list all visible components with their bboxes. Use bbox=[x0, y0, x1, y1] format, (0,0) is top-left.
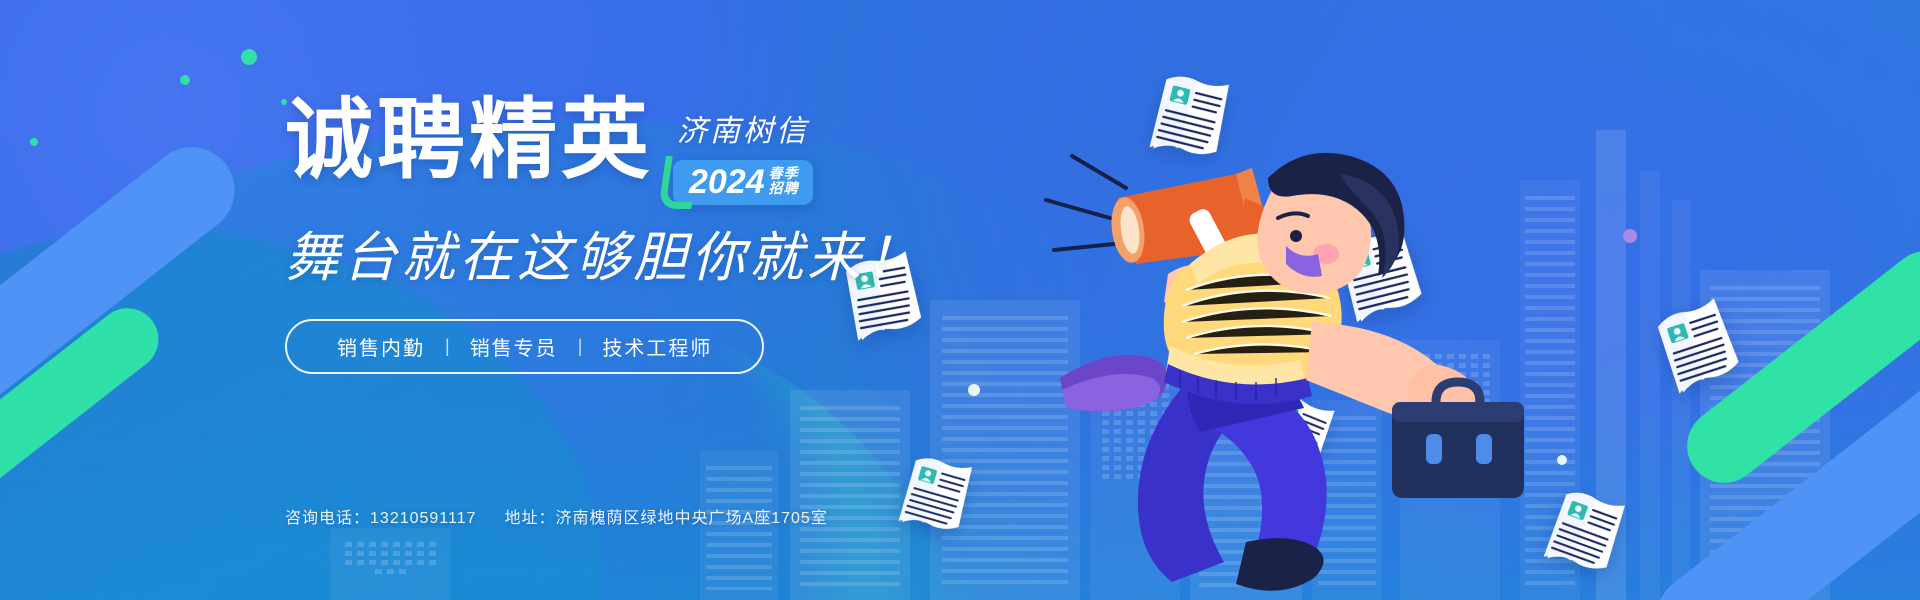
job-tags-pill[interactable]: 销售内勤|销售专员|技术工程师 bbox=[285, 319, 764, 374]
city-building bbox=[1640, 170, 1660, 600]
building-window bbox=[357, 542, 364, 547]
contact-info: 咨询电话：13210591117 地址：济南槐荫区绿地中央广场A座1705室 bbox=[285, 504, 828, 528]
banner-copy: 诚聘精英 济南树信 2024 春季 招聘 舞台就在这够胆你就来！ 销售内勤|销售… bbox=[285, 96, 1045, 374]
badge-season-line1: 春季 bbox=[769, 166, 799, 181]
building-window bbox=[393, 560, 400, 565]
building-window bbox=[393, 542, 400, 547]
eye bbox=[1290, 230, 1302, 242]
job-tag[interactable]: 技术工程师 bbox=[582, 332, 732, 361]
decor-dot bbox=[1623, 229, 1637, 243]
building-window bbox=[381, 560, 388, 565]
shoe bbox=[1236, 538, 1324, 591]
contact-phone: 咨询电话：13210591117 bbox=[285, 504, 477, 528]
building-window bbox=[405, 560, 412, 565]
building-window bbox=[387, 569, 394, 574]
contact-address-label: 地址： bbox=[505, 510, 556, 527]
building-window bbox=[429, 560, 436, 565]
city-building bbox=[790, 390, 910, 600]
building-window bbox=[369, 551, 376, 556]
decor-dot bbox=[968, 384, 980, 396]
building-window bbox=[429, 551, 436, 556]
building-window bbox=[393, 551, 400, 556]
building-window bbox=[429, 542, 436, 547]
contact-address-value: 济南槐荫区绿地中央广场A座1705室 bbox=[556, 510, 828, 527]
building-lines bbox=[706, 466, 772, 590]
building-window bbox=[399, 569, 406, 574]
decor-dot bbox=[1557, 455, 1567, 465]
head bbox=[1257, 153, 1404, 294]
decor-dot bbox=[30, 138, 38, 146]
contact-phone-value: 13210591117 bbox=[370, 510, 477, 527]
building-window bbox=[345, 551, 352, 556]
building-window bbox=[357, 560, 364, 565]
decor-dot bbox=[180, 75, 190, 85]
contact-phone-label: 咨询电话： bbox=[285, 510, 370, 527]
recruitment-banner: 诚聘精英 济南树信 2024 春季 招聘 舞台就在这够胆你就来！ 销售内勤|销售… bbox=[0, 0, 1920, 600]
building-window bbox=[345, 542, 352, 547]
resume-paper-icon bbox=[1645, 290, 1748, 404]
sub-headline: 舞台就在这够胆你就来！ bbox=[285, 231, 1045, 285]
year-badge: 2024 春季 招聘 bbox=[673, 160, 813, 205]
decor-dot bbox=[241, 49, 257, 65]
building-window bbox=[417, 542, 424, 547]
building-window bbox=[405, 542, 412, 547]
resume-paper-icon bbox=[890, 445, 981, 546]
company-name: 济南树信 bbox=[667, 106, 813, 150]
contact-address: 地址：济南槐荫区绿地中央广场A座1705室 bbox=[505, 504, 828, 528]
building-window bbox=[405, 551, 412, 556]
page-title: 诚聘精英 bbox=[285, 96, 653, 184]
building-window bbox=[375, 569, 382, 574]
badge-season: 春季 招聘 bbox=[769, 166, 799, 197]
badge-year: 2024 bbox=[689, 165, 765, 199]
building-window bbox=[369, 560, 376, 565]
building-window bbox=[369, 542, 376, 547]
badge-season-line2: 招聘 bbox=[769, 181, 799, 196]
building-lines bbox=[800, 406, 901, 590]
job-tag[interactable]: 销售专员 bbox=[450, 332, 578, 361]
building-window bbox=[381, 542, 388, 547]
running-man-illustration bbox=[1040, 78, 1510, 598]
building-window bbox=[417, 551, 424, 556]
job-tag[interactable]: 销售内勤 bbox=[317, 332, 445, 361]
building-window bbox=[345, 560, 352, 565]
badge-column: 济南树信 2024 春季 招聘 bbox=[667, 106, 813, 205]
building-window bbox=[417, 560, 424, 565]
headline-row: 诚聘精英 济南树信 2024 春季 招聘 bbox=[285, 96, 1045, 205]
building-windows bbox=[340, 542, 440, 574]
building-window bbox=[381, 551, 388, 556]
resume-paper-icon bbox=[1534, 477, 1634, 586]
building-window bbox=[357, 551, 364, 556]
city-building bbox=[330, 528, 450, 600]
